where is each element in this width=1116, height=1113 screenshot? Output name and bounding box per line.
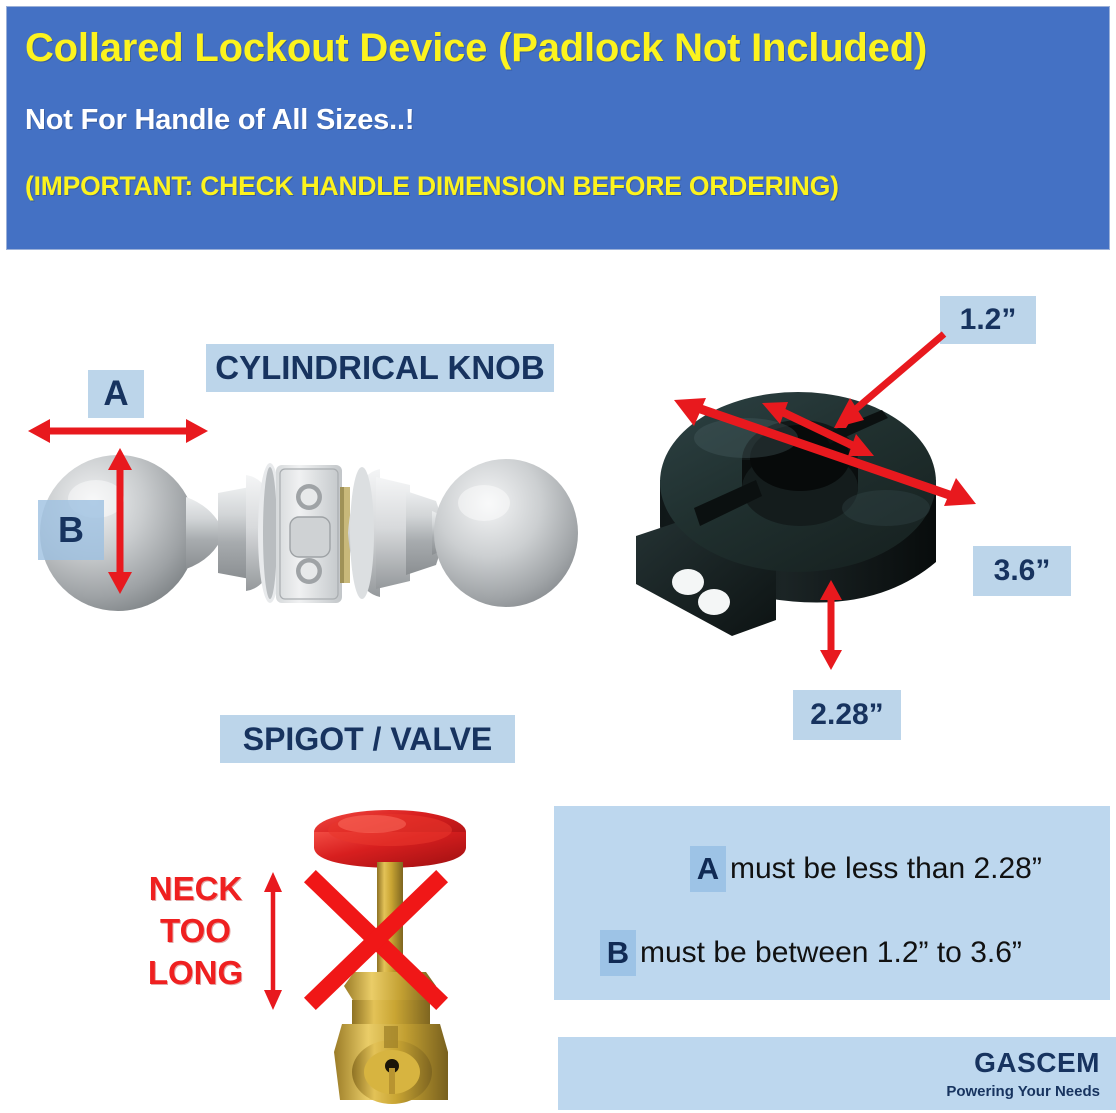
warning-line-1: NECK xyxy=(128,868,263,910)
dimension-marker-b: B xyxy=(38,500,104,560)
rule-a-text: must be less than 2.28” xyxy=(730,852,1042,886)
dimension-marker-a: A xyxy=(88,370,144,418)
spigot-valve-label: SPIGOT / VALVE xyxy=(220,715,515,763)
brand-name: GASCEM xyxy=(558,1047,1100,1079)
warning-line-3: LONG xyxy=(128,952,263,994)
dimension-arrow-inner-diameter xyxy=(762,400,874,460)
dimension-arrow-b xyxy=(103,448,137,594)
neck-too-long-warning: NECK TOO LONG xyxy=(128,868,263,994)
callout-height: 2.28” xyxy=(793,690,901,740)
rule-b: B must be between 1.2” to 3.6” xyxy=(600,930,1022,976)
red-x-reject-icon xyxy=(308,876,444,1004)
size-rules-panel: A must be less than 2.28” B must be betw… xyxy=(554,806,1110,1000)
product-infographic: Collared Lockout Device (Padlock Not Inc… xyxy=(0,0,1116,1113)
callout-outer-diameter: 3.6” xyxy=(973,546,1071,596)
cylindrical-knob-label: CYLINDRICAL KNOB xyxy=(206,344,554,392)
callout-inner-diameter: 1.2” xyxy=(940,296,1036,344)
header-banner: Collared Lockout Device (Padlock Not Inc… xyxy=(6,6,1110,250)
banner-title: Collared Lockout Device (Padlock Not Inc… xyxy=(25,25,1091,71)
rule-b-text: must be between 1.2” to 3.6” xyxy=(640,936,1022,970)
rule-a: A must be less than 2.28” xyxy=(690,846,1042,892)
banner-warning: (IMPORTANT: CHECK HANDLE DIMENSION BEFOR… xyxy=(25,170,1091,202)
dimension-arrow-height xyxy=(814,580,848,670)
rule-b-marker: B xyxy=(600,930,636,976)
warning-line-2: TOO xyxy=(128,910,263,952)
banner-subtitle: Not For Handle of All Sizes..! xyxy=(25,103,1091,137)
rule-a-marker: A xyxy=(690,846,726,892)
brand-tagline: Powering Your Needs xyxy=(558,1082,1100,1102)
brand-bar: GASCEM Powering Your Needs xyxy=(558,1037,1116,1110)
